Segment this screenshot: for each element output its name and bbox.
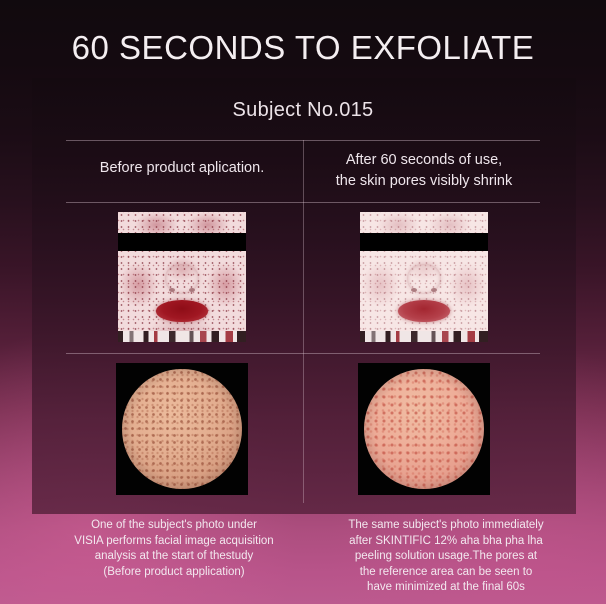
caption-after-line-5: have minimized at the final 60s — [308, 580, 584, 596]
caption-after-line-3: peeling solution usage.The pores at — [308, 549, 584, 565]
microscope-disc — [364, 369, 484, 489]
visia-facial-image-before — [118, 212, 246, 342]
cell-visia-before — [66, 205, 298, 349]
cell-visia-after — [308, 205, 540, 349]
caption-after-line-4: the reference area can be seen to — [308, 565, 584, 581]
caption-before-line-1: One of the subject's photo under — [40, 518, 308, 534]
caption-after-line-2: after SKINTIFIC 12% aha bha pha lha — [308, 534, 584, 550]
column-header-before-line1: Before product aplication. — [100, 160, 264, 176]
caption-before-line-2: VISIA performs facial image acquisition — [40, 534, 308, 550]
microscope-pore-image-before — [116, 363, 248, 495]
microscope-disc — [122, 369, 242, 489]
microscope-vignette — [122, 369, 242, 489]
visia-nostril-right — [431, 288, 437, 292]
caption-after-line-1: The same subject's photo immediately — [308, 518, 584, 534]
divider-vertical — [303, 140, 304, 503]
visia-eye-censor-bar — [360, 233, 488, 251]
column-header-after-line1: After 60 seconds of use, — [346, 152, 502, 168]
page-title: 60 SECONDS TO EXFOLIATE — [0, 27, 606, 69]
column-header-before: Before product aplication. — [66, 158, 298, 179]
visia-color-calibration-strip — [118, 331, 246, 342]
visia-lips — [156, 300, 208, 322]
caption-after: The same subject's photo immediately aft… — [308, 518, 584, 596]
microscope-pore-image-after — [358, 363, 490, 495]
column-header-after-line2: the skin pores visibly shrink — [336, 173, 513, 189]
cell-microscope-after — [308, 357, 540, 501]
microscope-vignette — [364, 369, 484, 489]
cell-microscope-before — [66, 357, 298, 501]
visia-nostril-right — [189, 288, 195, 292]
column-header-after: After 60 seconds of use, the skin pores … — [308, 150, 540, 192]
visia-color-calibration-strip — [360, 331, 488, 342]
visia-nostril-left — [169, 288, 175, 292]
subject-label: Subject No.015 — [0, 97, 606, 123]
visia-eye-censor-bar — [118, 233, 246, 251]
visia-facial-image-after — [360, 212, 488, 342]
visia-nostril-left — [411, 288, 417, 292]
caption-before: One of the subject's photo under VISIA p… — [40, 518, 308, 580]
caption-before-line-3: analysis at the start of thestudy — [40, 549, 308, 565]
infographic-canvas: 60 SECONDS TO EXFOLIATE Subject No.015 B… — [0, 0, 606, 604]
caption-before-line-4: (Before product application) — [40, 565, 308, 581]
visia-lips — [398, 300, 450, 322]
